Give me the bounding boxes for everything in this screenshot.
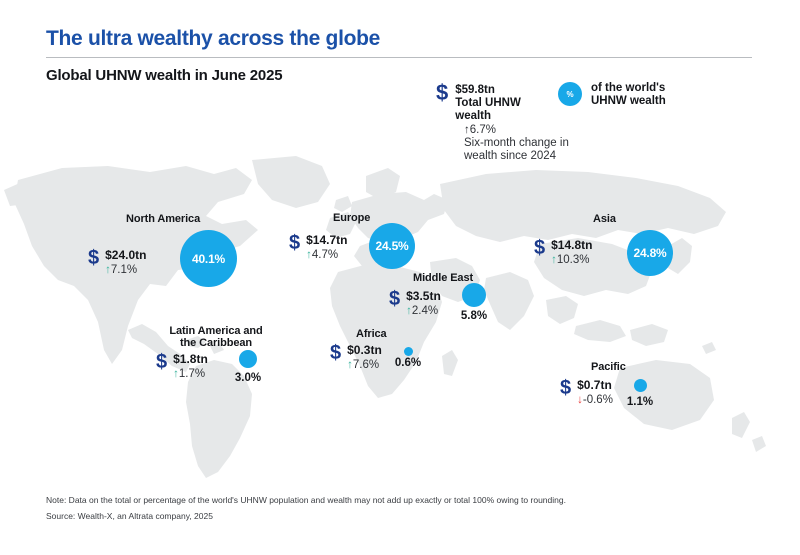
region-north-america[interactable]: North America <box>126 213 200 225</box>
dollar-icon: $ <box>156 352 167 372</box>
region-middle-east[interactable]: Middle East <box>413 272 473 284</box>
region-stat-asia: $ $14.8tn ↑10.3% <box>534 238 592 267</box>
region-label-europe: Europe <box>333 212 370 224</box>
bubble-europe[interactable]: 24.5% <box>369 223 415 269</box>
bubble-label-latin-america: 3.0% <box>226 372 270 384</box>
header: The ultra wealthy across the globe <box>46 26 756 52</box>
footer: Note: Data on the total or percentage of… <box>46 492 766 524</box>
map-landmasses <box>4 156 766 478</box>
region-amount-north-america: $24.0tn <box>105 248 146 262</box>
legend-change-value: ↑6.7% <box>464 124 569 137</box>
region-stat-pacific: $ $0.7tn ↓-0.6% <box>560 378 613 407</box>
region-amount-pacific: $0.7tn <box>577 378 613 392</box>
region-label-latin-america-1: Latin America and <box>160 325 272 337</box>
region-label-africa: Africa <box>356 328 387 340</box>
region-change-latin-america: ↑1.7% <box>173 367 208 381</box>
region-africa[interactable]: Africa <box>356 328 387 340</box>
dollar-icon: $ <box>389 289 400 309</box>
region-label-north-america: North America <box>126 213 200 225</box>
dollar-icon: $ <box>88 248 99 268</box>
bubble-north-america[interactable]: 40.1% <box>180 230 237 287</box>
region-pacific[interactable]: Pacific <box>591 361 626 373</box>
region-amount-asia: $14.8tn <box>551 238 592 252</box>
percent-badge-icon: % <box>558 82 582 106</box>
dollar-icon: $ <box>560 378 571 398</box>
region-change-africa: ↑7.6% <box>347 358 382 372</box>
legend-total-wealth: $ $59.8tn Total UHNW wealth <box>436 82 521 123</box>
legend-total-label-2: wealth <box>455 110 521 123</box>
region-label-middle-east: Middle East <box>413 272 473 284</box>
region-label-latin-america-2: the Caribbean <box>160 337 272 349</box>
region-stat-africa: $ $0.3tn ↑7.6% <box>330 343 382 372</box>
legend-change-desc-2: wealth since 2024 <box>464 150 569 163</box>
footer-note: Note: Data on the total or percentage of… <box>46 492 766 508</box>
dollar-icon: $ <box>330 343 341 363</box>
region-amount-africa: $0.3tn <box>347 343 382 357</box>
region-label-asia: Asia <box>593 213 616 225</box>
region-stat-latin-america: $ $1.8tn ↑1.7% <box>156 352 208 381</box>
bubble-africa[interactable] <box>404 347 413 356</box>
region-stat-north-america: $ $24.0tn ↑7.1% <box>88 248 146 277</box>
bubble-asia[interactable]: 24.8% <box>627 230 673 276</box>
region-change-middle-east: ↑2.4% <box>406 304 441 318</box>
region-amount-latin-america: $1.8tn <box>173 352 208 366</box>
header-divider <box>46 57 752 58</box>
region-change-pacific: ↓-0.6% <box>577 393 613 407</box>
region-change-asia: ↑10.3% <box>551 253 592 267</box>
bubble-latin-america[interactable] <box>239 350 257 368</box>
bubble-label-pacific: 1.1% <box>618 396 662 408</box>
region-change-europe: ↑4.7% <box>306 248 347 262</box>
region-amount-europe: $14.7tn <box>306 233 347 247</box>
legend-total-label-1: Total UHNW <box>455 97 521 110</box>
page-subtitle: Global UHNW wealth in June 2025 <box>46 67 282 84</box>
dollar-icon: $ <box>436 82 448 104</box>
region-latin-america[interactable]: Latin America and the Caribbean <box>160 325 272 349</box>
footer-source: Source: Wealth-X, an Altrata company, 20… <box>46 508 766 524</box>
bubble-label-africa: 0.6% <box>386 357 430 369</box>
legend-change-desc-1: Six-month change in <box>464 137 569 150</box>
legend-share-label-1: of the world's <box>591 82 666 95</box>
page-title: The ultra wealthy across the globe <box>46 26 756 52</box>
bubble-pacific[interactable] <box>634 379 647 392</box>
region-europe[interactable]: Europe <box>333 212 370 224</box>
region-change-north-america: ↑7.1% <box>105 263 146 277</box>
legend-share-key: % of the world's UHNW wealth <box>558 82 666 108</box>
dollar-icon: $ <box>534 238 545 258</box>
region-stat-middle-east: $ $3.5tn ↑2.4% <box>389 289 441 318</box>
bubble-label-middle-east: 5.8% <box>452 310 496 322</box>
dollar-icon: $ <box>289 233 300 253</box>
region-stat-europe: $ $14.7tn ↑4.7% <box>289 233 347 262</box>
bubble-middle-east[interactable] <box>462 283 486 307</box>
legend-share-label-2: UHNW wealth <box>591 95 666 108</box>
legend-total-amount: $59.8tn <box>455 84 521 97</box>
region-label-pacific: Pacific <box>591 361 626 373</box>
legend-total-change: ↑6.7% Six-month change in wealth since 2… <box>464 124 569 163</box>
region-amount-middle-east: $3.5tn <box>406 289 441 303</box>
region-asia[interactable]: Asia <box>593 213 616 225</box>
infographic-root: The ultra wealthy across the globe Globa… <box>0 0 800 555</box>
